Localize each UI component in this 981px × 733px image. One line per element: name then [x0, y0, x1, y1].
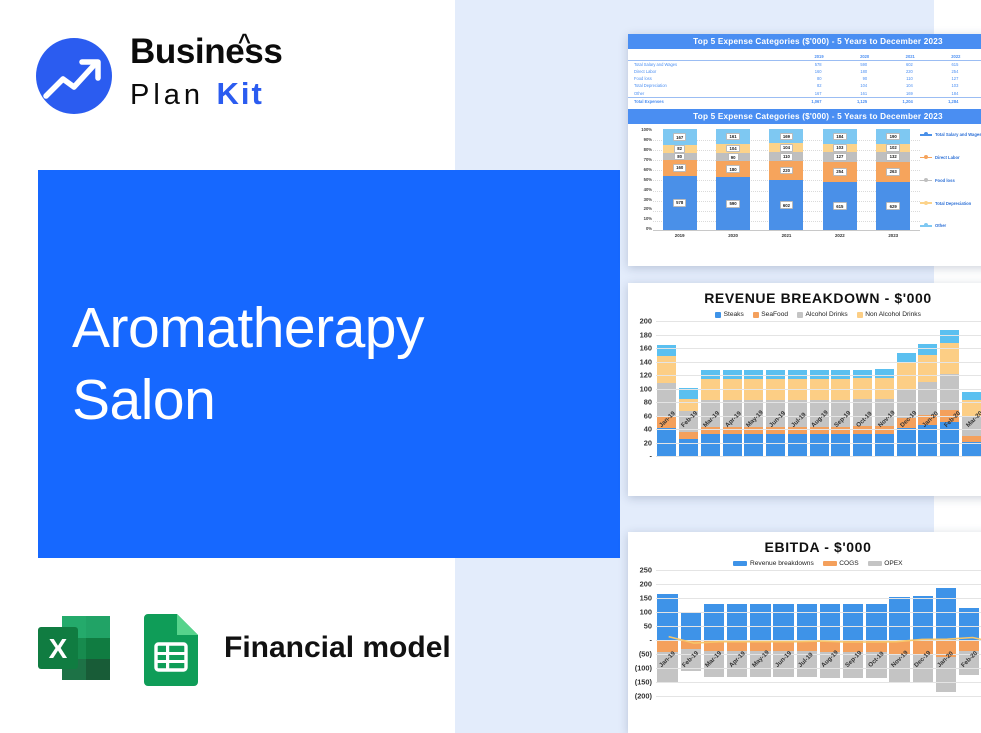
bar-segment	[913, 596, 933, 640]
row-value: 160	[780, 68, 826, 75]
row-value: 1,284	[917, 98, 963, 106]
y-tick-label: 30%	[630, 198, 652, 202]
stacked-bar[interactable]: 184103127254615	[823, 129, 857, 230]
expense-chart-title: Top 5 Expense Categories ($'000) - 5 Yea…	[628, 109, 981, 124]
bar-segment: 190	[876, 129, 910, 144]
y-tick-label: 250	[640, 566, 652, 575]
financial-model-label: Financial model	[224, 631, 451, 665]
table-col-header: 2022	[917, 53, 963, 61]
legend-item[interactable]: SeaFood	[753, 311, 788, 318]
bar-segment: 220	[769, 161, 803, 179]
bar-segment	[727, 604, 747, 640]
segment-value-label: 615	[833, 202, 847, 210]
brand-line-plan-kit: Plan Kit	[130, 74, 282, 120]
percent-x-axis-labels: 20192020202120222023	[653, 233, 920, 238]
bar-segment	[918, 344, 937, 355]
ebitda-chart-legend[interactable]: Revenue breakdownsCOGSOPEX	[628, 560, 981, 567]
bar-segment: 103	[823, 144, 857, 152]
segment-value-label: 160	[673, 164, 687, 172]
row-value: 1,125	[826, 98, 872, 106]
google-sheets-icon	[140, 610, 202, 686]
row-label: Food loss	[628, 76, 780, 83]
y-tick-label: (150)	[635, 678, 652, 687]
bar-segment: 104	[716, 144, 750, 153]
segment-value-label: 132	[886, 153, 900, 161]
y-tick-label: (200)	[635, 692, 652, 701]
legend-label: OPEX	[884, 560, 902, 567]
row-value: 1,067	[780, 98, 826, 106]
growth-arrow-circle-icon	[36, 38, 112, 114]
segment-value-label: 169	[780, 133, 794, 141]
row-value: 167	[780, 90, 826, 98]
row-value: 578	[780, 61, 826, 69]
brand-logo[interactable]: Business ^ Plan Kit	[36, 30, 336, 122]
y-tick-label: 60%	[630, 168, 652, 172]
percent-plot-area: 1678280160578161104901805901691041102206…	[653, 129, 920, 231]
bar-segment: 132	[876, 152, 910, 162]
bar-segment	[940, 330, 959, 343]
y-tick-label: (50)	[639, 650, 652, 659]
bar-segment	[657, 356, 676, 383]
gridline	[656, 696, 981, 697]
bar-segment: 160	[663, 160, 697, 175]
row-label: Direct Labor	[628, 68, 780, 75]
bar-segment	[962, 442, 981, 456]
y-tick-label: 100	[640, 608, 652, 617]
bar-segment	[788, 434, 807, 456]
bar-segment: 161	[716, 129, 750, 143]
bar-segment: 104	[769, 143, 803, 152]
revenue-plot-area	[656, 321, 981, 456]
legend-swatch	[920, 157, 932, 159]
bar-segment	[889, 597, 909, 640]
bar-segment	[766, 379, 785, 400]
segment-value-label: 578	[673, 199, 687, 207]
page-title: Aromatherapy Salon	[72, 292, 592, 436]
gridline	[656, 402, 981, 403]
segment-value-label: 254	[833, 168, 847, 176]
row-value: 263	[962, 68, 981, 75]
row-value: 1,316	[962, 98, 981, 106]
bar-segment	[773, 640, 793, 651]
bar-segment	[773, 604, 793, 640]
bar-segment	[940, 374, 959, 410]
bar-segment	[701, 379, 720, 400]
row-value: 90	[826, 76, 872, 83]
segment-value-label: 263	[886, 168, 900, 176]
brand-plan-text: Plan	[130, 79, 204, 111]
bar-segment	[820, 604, 840, 640]
table-row: Total Salary and Wages578590602615629	[628, 61, 981, 69]
bar-segment: 254	[823, 162, 857, 182]
x-tick-label: 2022	[823, 233, 857, 238]
legend-swatch	[868, 561, 882, 566]
segment-value-label: 190	[886, 133, 900, 141]
segment-value-label: 161	[726, 133, 740, 141]
ebitda-chart-title: EBITDA - $'000	[628, 539, 981, 555]
bar-column[interactable]	[704, 570, 724, 696]
row-value: 180	[826, 68, 872, 75]
gridline	[656, 362, 981, 363]
bar-segment	[679, 432, 698, 439]
gridline	[656, 321, 981, 322]
y-tick-label: 40	[644, 425, 652, 434]
table-col-header	[628, 53, 780, 61]
table-header-row: 20192020202120222023	[628, 53, 981, 61]
card-ebitda[interactable]: EBITDA - $'000 Revenue breakdownsCOGSOPE…	[628, 532, 981, 733]
bar-column[interactable]	[936, 570, 956, 696]
legend-item[interactable]: Direct Labor	[920, 155, 981, 160]
legend-label: Total Salary and Wages	[935, 132, 981, 137]
bar-segment: 167	[663, 129, 697, 145]
brand-kit-text: Kit	[217, 76, 264, 111]
x-tick-label: 2023	[876, 233, 910, 238]
legend-item[interactable]: Steaks	[715, 311, 744, 318]
legend-item[interactable]: COGS	[823, 560, 859, 567]
microsoft-excel-icon: X	[36, 610, 112, 686]
bar-segment: 102	[876, 144, 910, 152]
expense-percent-stacked-chart[interactable]: 100%90%80%70%60%50%40%30%20%10%0% 167828…	[628, 124, 981, 246]
bar-segment	[820, 640, 840, 652]
table-col-header: 2019	[780, 53, 826, 61]
row-value: 220	[871, 68, 917, 75]
legend-swatch	[797, 312, 803, 318]
y-tick-label: 40%	[630, 188, 652, 192]
legend-swatch	[715, 312, 721, 318]
legend-label: SeaFood	[761, 311, 788, 318]
bar-column[interactable]	[750, 570, 770, 696]
bar-column[interactable]	[913, 570, 933, 696]
gridline	[656, 584, 981, 585]
legend-item[interactable]: Non Alcohol Drinks	[857, 311, 921, 318]
legend-swatch	[920, 225, 932, 227]
legend-swatch	[920, 180, 932, 182]
y-tick-label: 0%	[630, 227, 652, 231]
gridline	[656, 335, 981, 336]
bar-segment	[679, 399, 698, 411]
segment-value-label: 104	[780, 144, 794, 152]
svg-text:X: X	[49, 633, 68, 664]
segment-value-label: 180	[726, 165, 740, 173]
legend-swatch	[857, 312, 863, 318]
bar-segment	[701, 434, 720, 456]
bar-segment	[788, 379, 807, 400]
row-value: 104	[826, 83, 872, 90]
y-tick-label: 150	[640, 594, 652, 603]
bar-segment	[766, 434, 785, 456]
brand-circumflex-accent: ^	[238, 31, 250, 53]
row-value: 254	[917, 68, 963, 75]
bar-column[interactable]	[866, 570, 886, 696]
bar-segment: 90	[716, 153, 750, 161]
bar-column[interactable]	[773, 570, 793, 696]
expense-chart-legend[interactable]: Total Salary and WagesDirect LaborFood l…	[920, 132, 981, 228]
row-value: 82	[780, 83, 826, 90]
gridline	[656, 456, 981, 457]
x-tick-label: 2021	[769, 233, 803, 238]
segment-value-label: 103	[833, 144, 847, 152]
card-expense-categories[interactable]: Top 5 Expense Categories ($'000) - 5 Yea…	[628, 34, 981, 266]
brand-business-text: Business	[130, 32, 282, 71]
bar-segment	[723, 434, 742, 456]
bar-segment	[853, 434, 872, 456]
revenue-plot-box: 20018016014012010080604020-	[628, 321, 981, 456]
legend-label: Direct Labor	[935, 155, 960, 160]
row-value: 629	[962, 61, 981, 69]
segment-value-label: 602	[780, 201, 794, 209]
stacked-bar[interactable]: 1678280160578	[663, 129, 697, 230]
y-tick-label: 200	[640, 580, 652, 589]
y-tick-label: 70%	[630, 158, 652, 162]
segment-value-label: 104	[726, 145, 740, 153]
gridline	[656, 375, 981, 376]
bar-segment	[831, 379, 850, 400]
legend-label: Non Alcohol Drinks	[865, 311, 921, 318]
legend-swatch	[920, 202, 932, 204]
y-tick-label: 50%	[630, 178, 652, 182]
legend-item[interactable]: Food loss	[920, 178, 981, 183]
bar-segment	[918, 355, 937, 382]
y-tick-label: 10%	[630, 217, 652, 221]
revenue-chart-legend[interactable]: SteaksSeaFoodAlcohol DrinksNon Alcohol D…	[628, 311, 981, 318]
row-value: 590	[826, 61, 872, 69]
y-tick-label: 100%	[630, 128, 652, 132]
gridline	[656, 348, 981, 349]
x-tick-label: 2019	[663, 233, 697, 238]
bar-column[interactable]	[681, 570, 701, 696]
row-label: Total Salary and Wages	[628, 61, 780, 69]
gridline	[656, 443, 981, 444]
ebitda-y-axis: 25020015010050-(50)(100)(150)(200)	[628, 570, 654, 696]
y-tick-label: (100)	[635, 664, 652, 673]
legend-item[interactable]: OPEX	[868, 560, 903, 567]
legend-label: Total Depreciation	[935, 201, 971, 206]
segment-value-label: 102	[886, 144, 900, 152]
row-value: 184	[917, 90, 963, 98]
legend-item[interactable]: Total Salary and Wages	[920, 132, 981, 137]
segment-value-label: 184	[833, 133, 847, 141]
legend-swatch	[823, 561, 837, 566]
row-value: 127	[917, 76, 963, 83]
row-value: 102	[962, 83, 981, 90]
bar-segment	[866, 604, 886, 640]
bar-stack	[897, 353, 916, 456]
y-tick-label: 80%	[630, 148, 652, 152]
bar-segment: 263	[876, 162, 910, 182]
row-value: 602	[871, 61, 917, 69]
slide-canvas: Business ^ Plan Kit Aromatherapy Salon X	[0, 0, 981, 733]
segment-value-label: 127	[833, 153, 847, 161]
expense-table: 20192020202120222023 Total Salary and Wa…	[628, 53, 981, 105]
page-title-line-2: Salon	[72, 364, 592, 436]
legend-label: Other	[935, 223, 946, 228]
row-value: 161	[826, 90, 872, 98]
y-tick-label: 180	[640, 330, 652, 339]
bar-column[interactable]	[657, 570, 677, 696]
gridline	[656, 640, 981, 641]
row-label: Other	[628, 90, 780, 98]
bar-segment: 602	[769, 180, 803, 230]
row-label: Total Depreciation	[628, 83, 780, 90]
revenue-chart-title: REVENUE BREAKDOWN - $'000	[628, 290, 981, 306]
bar-segment	[810, 379, 829, 400]
legend-item[interactable]: Total Depreciation	[920, 201, 981, 206]
row-value: 615	[917, 61, 963, 69]
table-row: Other167161169184190	[628, 90, 981, 98]
revenue-x-axis-labels: Jan-19Feb-19Mar-19Apr-19May-19Jun-19Jul-…	[656, 424, 981, 431]
bar-column[interactable]	[820, 570, 840, 696]
bar-segment: 615	[823, 182, 857, 230]
format-badges: X Financial model	[36, 610, 451, 686]
y-tick-label: -	[650, 452, 652, 461]
y-tick-label: 80	[644, 398, 652, 407]
row-value: 190	[962, 90, 981, 98]
ebitda-plot-area	[656, 570, 981, 696]
bar-segment	[744, 434, 763, 456]
legend-label: Revenue breakdowns	[750, 560, 814, 567]
bar-segment	[681, 640, 701, 649]
y-tick-label: 50	[644, 622, 652, 631]
bar-segment	[875, 434, 894, 456]
y-tick-label: 60	[644, 411, 652, 420]
bar-segment: 82	[663, 145, 697, 153]
segment-value-label: 80	[674, 153, 685, 161]
gridline	[656, 570, 981, 571]
bar-segment	[962, 392, 981, 400]
bar-segment	[875, 369, 894, 378]
legend-item[interactable]: Other	[920, 223, 981, 228]
bar-segment	[959, 640, 979, 651]
row-value: 1,204	[871, 98, 917, 106]
y-tick-label: 90%	[630, 138, 652, 142]
y-tick-label: 160	[640, 344, 652, 353]
segment-value-label: 590	[726, 200, 740, 208]
table-col-header: 2021	[871, 53, 917, 61]
legend-swatch	[733, 561, 747, 566]
bar-segment: 80	[663, 153, 697, 161]
row-value: 103	[917, 83, 963, 90]
segment-value-label: 110	[780, 153, 793, 161]
bar-segment: 184	[823, 129, 857, 143]
bar-segment	[797, 604, 817, 640]
table-row: Food loss8090110127132	[628, 76, 981, 83]
segment-value-label: 82	[674, 145, 685, 153]
gridline	[656, 612, 981, 613]
row-value: 104	[871, 83, 917, 90]
bar-segment	[959, 608, 979, 640]
card-revenue-breakdown[interactable]: REVENUE BREAKDOWN - $'000 SteaksSeaFoodA…	[628, 283, 981, 496]
segment-value-label: 90	[728, 153, 739, 161]
percent-y-axis: 100%90%80%70%60%50%40%30%20%10%0%	[630, 128, 652, 231]
stacked-bar[interactable]: 190102132263629	[876, 129, 910, 230]
brand-line-business: Business ^	[130, 30, 282, 74]
bar-segment	[657, 345, 676, 356]
bar-segment	[810, 434, 829, 456]
legend-swatch	[753, 312, 759, 318]
segment-value-label: 220	[780, 167, 794, 175]
table-col-header: 2020	[826, 53, 872, 61]
expense-table-title: Top 5 Expense Categories ($'000) - 5 Yea…	[628, 34, 981, 49]
bar-segment: 180	[716, 161, 750, 177]
bar-segment	[657, 594, 677, 640]
bar-segment: 578	[663, 176, 697, 231]
gridline	[656, 598, 981, 599]
bar-column[interactable]	[889, 570, 909, 696]
bar-segment	[723, 379, 742, 400]
bar-segment	[853, 370, 872, 379]
bar-segment	[704, 604, 724, 640]
ebitda-x-axis-labels: Jan-19Feb-19Mar-19Apr-19May-19Jun-19Jul-…	[656, 664, 981, 671]
bar-segment: 169	[769, 129, 803, 143]
bar-column[interactable]	[797, 570, 817, 696]
y-tick-label: 200	[640, 317, 652, 326]
x-tick-label: 2020	[716, 233, 750, 238]
table-row: Total Depreciation82104104103102	[628, 83, 981, 90]
table-row: Direct Labor160180220254263	[628, 68, 981, 75]
bar-segment	[831, 434, 850, 456]
legend-label: Steaks	[724, 311, 744, 318]
bar-segment	[744, 379, 763, 400]
y-tick-label: 100	[640, 384, 652, 393]
y-tick-label: 20	[644, 438, 652, 447]
y-tick-label: 20%	[630, 207, 652, 211]
row-value: 132	[962, 76, 981, 83]
bar-column[interactable]	[843, 570, 863, 696]
y-tick-label: 140	[640, 357, 652, 366]
row-value: 110	[871, 76, 917, 83]
brand-wordmark: Business ^ Plan Kit	[130, 30, 282, 120]
bar-segment	[750, 604, 770, 640]
gridline	[656, 626, 981, 627]
legend-label: COGS	[839, 560, 858, 567]
bar-segment: 110	[769, 152, 803, 161]
legend-item[interactable]: Revenue breakdowns	[733, 560, 813, 567]
table-total-row: Total Expenses1,0671,1251,2041,2841,316	[628, 98, 981, 106]
bar-segment: 629	[876, 182, 910, 230]
gridline	[656, 682, 981, 683]
segment-value-label: 167	[673, 133, 687, 141]
stacked-bar[interactable]: 169104110220602	[769, 129, 803, 230]
stacked-bar[interactable]: 16110490180590	[716, 129, 750, 230]
bar-segment: 590	[716, 177, 750, 230]
legend-label: Alcohol Drinks	[806, 311, 848, 318]
bar-segment	[843, 604, 863, 640]
bar-segment: 127	[823, 152, 857, 162]
revenue-y-axis: 20018016014012010080604020-	[628, 321, 654, 456]
y-tick-label: -	[650, 636, 652, 645]
bar-column[interactable]	[727, 570, 747, 696]
bar-segment	[797, 640, 817, 651]
bar-column[interactable]	[959, 570, 979, 696]
y-tick-label: 120	[640, 371, 652, 380]
legend-label: Food loss	[935, 178, 955, 183]
page-title-line-1: Aromatherapy	[72, 292, 592, 364]
ebitda-plot-box: 25020015010050-(50)(100)(150)(200)	[628, 570, 981, 696]
row-label: Total Expenses	[628, 98, 780, 106]
row-value: 80	[780, 76, 826, 83]
table-col-header: 2023	[962, 53, 981, 61]
legend-item[interactable]: Alcohol Drinks	[797, 311, 848, 318]
gridline	[656, 389, 981, 390]
bar-segment	[704, 640, 724, 651]
bar-segment	[936, 588, 956, 640]
legend-swatch	[920, 134, 932, 136]
row-value: 169	[871, 90, 917, 98]
segment-value-label: 629	[886, 202, 900, 210]
